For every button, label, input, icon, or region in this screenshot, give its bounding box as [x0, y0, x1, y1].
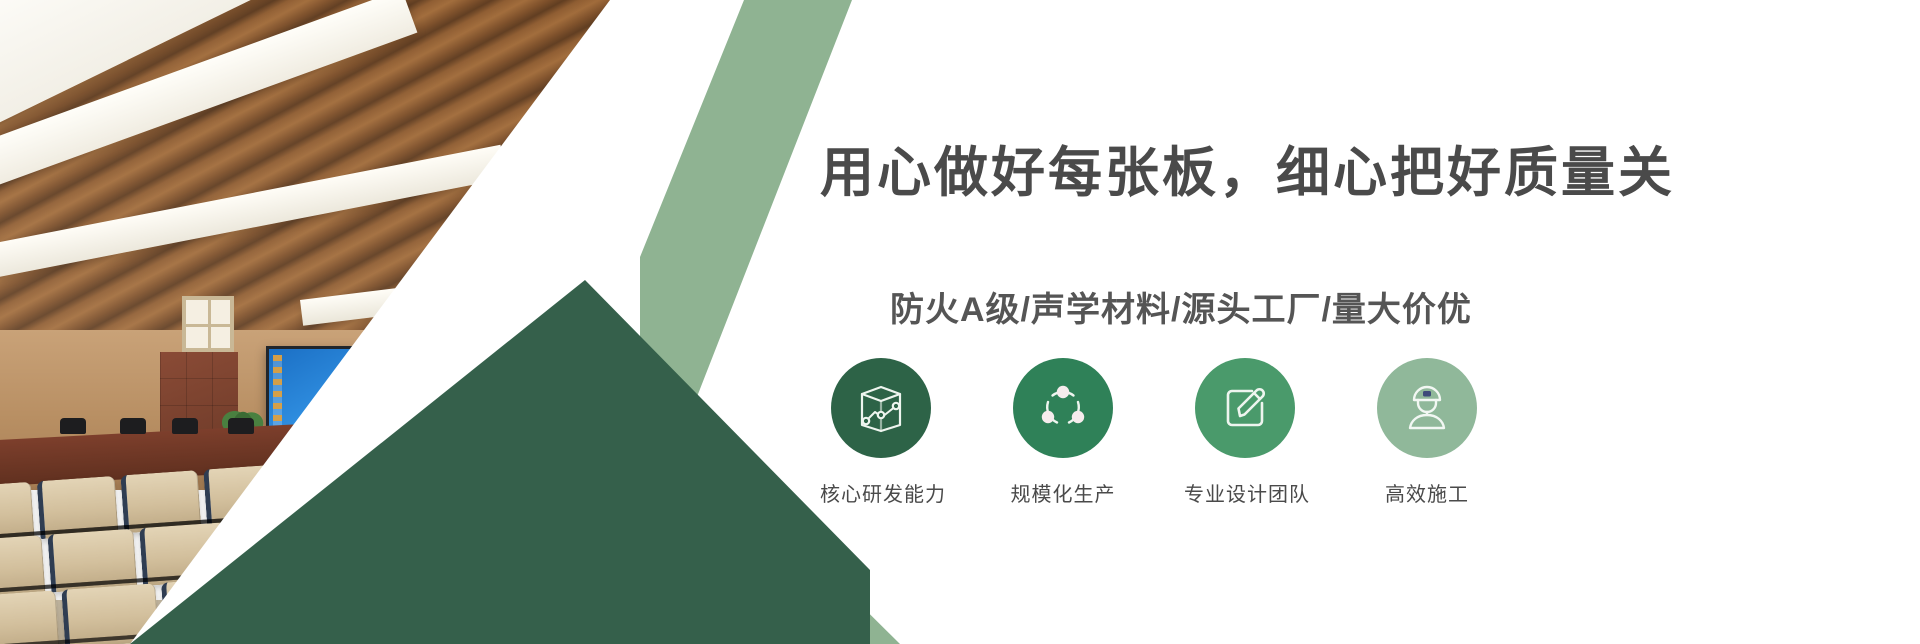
network-nodes-icon — [1036, 381, 1090, 435]
feature-label-3: 专业设计团队 — [1184, 478, 1306, 507]
worker-helmet-icon — [1401, 382, 1453, 434]
feature-circle-2 — [1013, 358, 1113, 458]
feature-item-core-rd[interactable]: 核心研发能力 — [820, 358, 942, 507]
feature-label-2: 规模化生产 — [1002, 478, 1124, 507]
feature-circle-4 — [1377, 358, 1477, 458]
cube-chart-icon — [854, 381, 908, 435]
feature-label-1: 核心研发能力 — [820, 478, 942, 507]
feature-item-scale-production[interactable]: 规模化生产 — [1002, 358, 1124, 507]
banner-content: 用心做好每张板，细心把好质量关 防火A级/声学材料/源头工厂/量大价优 — [0, 0, 1920, 644]
feature-circle-1 — [831, 358, 931, 458]
banner-headline: 用心做好每张板，细心把好质量关 — [820, 128, 1675, 207]
feature-item-efficient-install[interactable]: 高效施工 — [1366, 358, 1488, 507]
promo-banner: 用心做好每张板，细心把好质量关 防火A级/声学材料/源头工厂/量大价优 — [0, 0, 1920, 644]
banner-subheadline: 防火A级/声学材料/源头工厂/量大价优 — [890, 282, 1472, 331]
feature-label-4: 高效施工 — [1366, 478, 1488, 507]
feature-list: 核心研发能力 规模化生产 — [820, 358, 1488, 507]
pencil-edit-icon — [1218, 381, 1272, 435]
feature-item-design-team[interactable]: 专业设计团队 — [1184, 358, 1306, 507]
feature-circle-3 — [1195, 358, 1295, 458]
